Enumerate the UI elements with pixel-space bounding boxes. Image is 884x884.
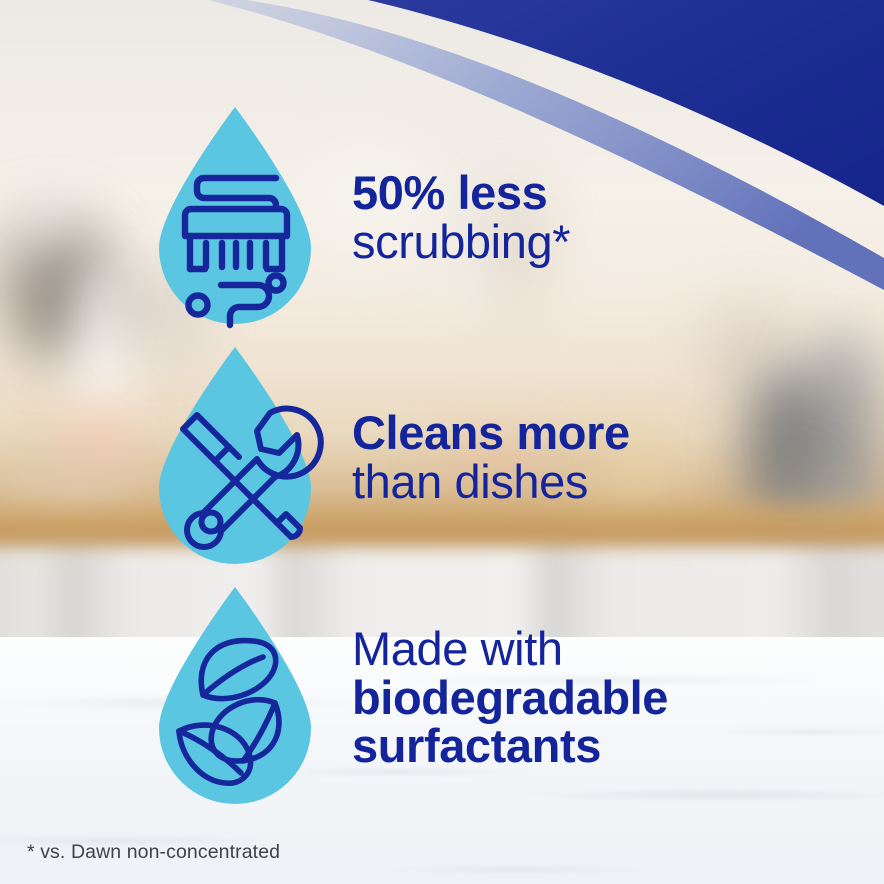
- benefit-line: biodegradable: [352, 674, 668, 723]
- benefit-line: than dishes: [352, 458, 630, 507]
- benefit-row: 50% less scrubbing*: [145, 103, 570, 333]
- benefit-row: Cleans more than dishes: [145, 343, 630, 573]
- recycling-leaves-icon: [145, 583, 325, 813]
- droplet-badge: [145, 103, 325, 333]
- droplet-badge: [145, 583, 325, 813]
- benefit-line: scrubbing*: [352, 218, 570, 267]
- scrub-brush-icon: [145, 103, 325, 333]
- infographic-canvas: 50% less scrubbing*: [0, 0, 884, 884]
- benefit-list: 50% less scrubbing*: [0, 0, 884, 884]
- droplet-badge: [145, 343, 325, 573]
- benefit-line: Made with: [352, 625, 668, 674]
- screwdriver-wrench-icon: [145, 343, 325, 573]
- benefit-line: 50% less: [352, 169, 570, 218]
- benefit-line: surfactants: [352, 722, 668, 771]
- benefit-text: 50% less scrubbing*: [352, 169, 570, 267]
- benefit-text: Made with biodegradable surfactants: [352, 625, 668, 772]
- footnote: * vs. Dawn non-concentrated: [27, 841, 280, 864]
- benefit-row: Made with biodegradable surfactants: [145, 583, 668, 813]
- benefit-line: Cleans more: [352, 409, 630, 458]
- benefit-text: Cleans more than dishes: [352, 409, 630, 507]
